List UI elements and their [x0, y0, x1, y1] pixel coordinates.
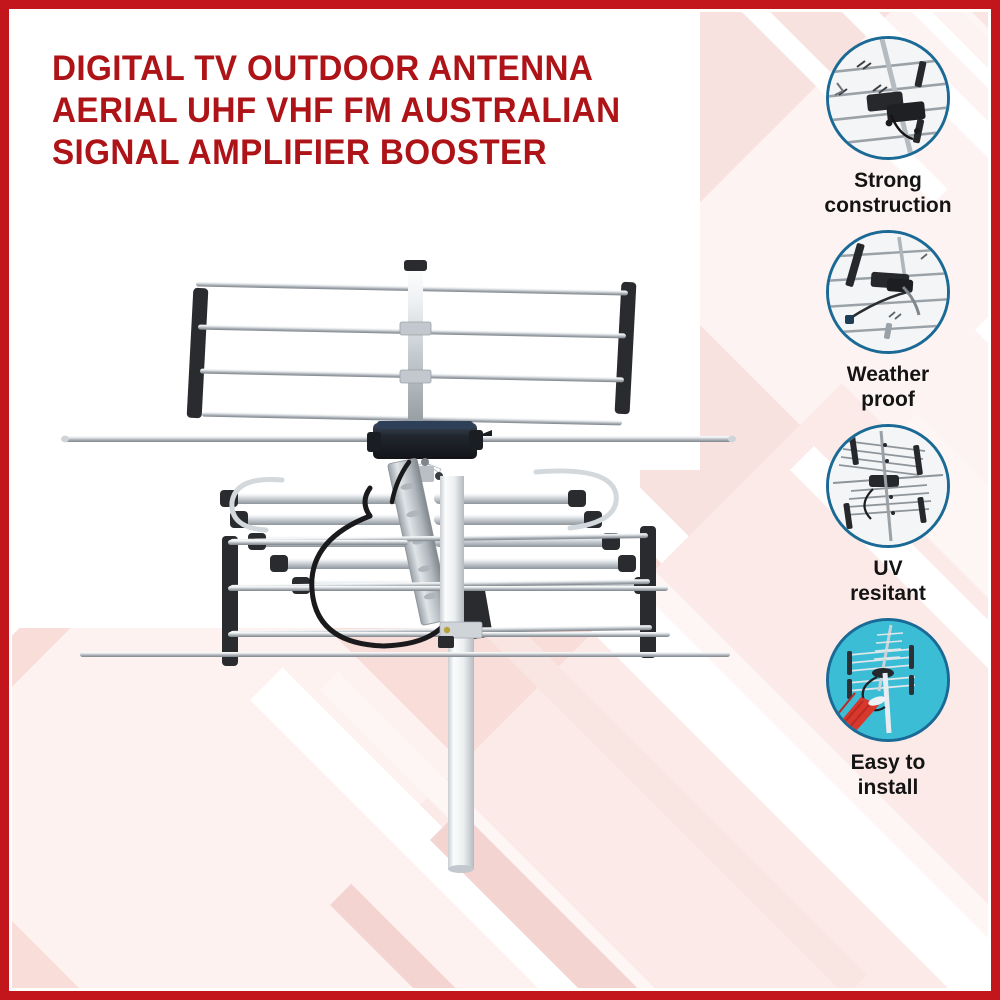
feature-thumb-uv-resitant [826, 424, 950, 548]
lower-dipole-element [80, 652, 730, 657]
feature-label-strong-construction: Strong construction [790, 168, 986, 218]
feature-thumb-weather-proof [826, 230, 950, 354]
feature-thumb-strong-construction [826, 36, 950, 160]
title-line-3: SIGNAL AMPLIFIER BOOSTER [52, 132, 679, 174]
feature-weather-proof[interactable]: Weather proof [790, 230, 986, 412]
product-listing-image: DIGITAL TV OUTDOOR ANTENNA AERIAL UHF VH… [0, 0, 1000, 1000]
title-line-2: AERIAL UHF VHF FM AUSTRALIAN [52, 90, 679, 132]
uhf-director-array [220, 458, 652, 644]
feature-label-uv-resitant: UV resitant [790, 556, 986, 606]
feature-label-weather-proof: Weather proof [790, 362, 986, 412]
feature-thumb-easy-to-install [826, 618, 950, 742]
feature-callout-list: Strong construction [790, 36, 986, 812]
title-line-1: DIGITAL TV OUTDOOR ANTENNA [52, 48, 679, 90]
bg-stripe [330, 884, 535, 1000]
product-title: DIGITAL TV OUTDOOR ANTENNA AERIAL UHF VH… [52, 48, 712, 174]
feature-label-easy-to-install: Easy to install [790, 750, 986, 800]
amplifier-housing [367, 421, 492, 482]
feature-uv-resitant[interactable]: UV resitant [790, 424, 986, 606]
product-image [40, 240, 760, 900]
feature-strong-construction[interactable]: Strong construction [790, 36, 986, 218]
feature-easy-to-install[interactable]: Easy to install [790, 618, 986, 800]
